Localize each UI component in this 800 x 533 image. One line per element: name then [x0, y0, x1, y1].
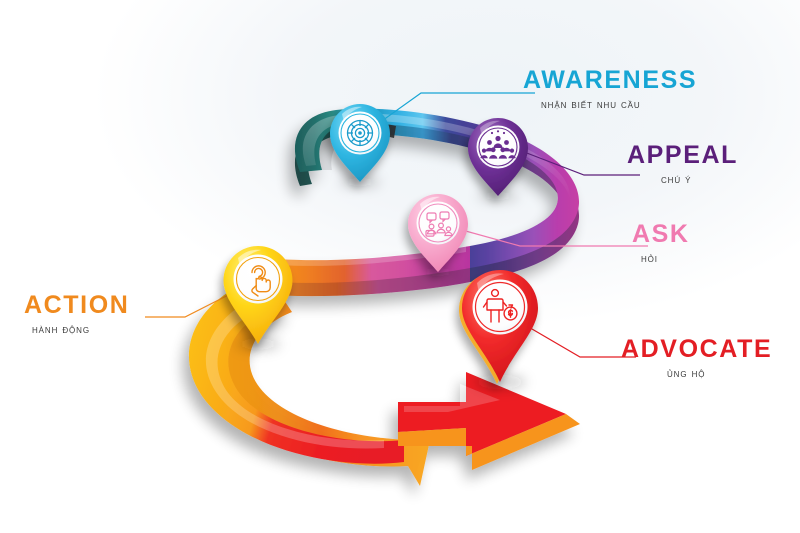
stage-label-advocate[interactable]: ADVOCATE Ủng hộ [621, 337, 772, 381]
pin-appeal[interactable] [468, 118, 528, 196]
stage-label-ask[interactable]: ASK Hỏi [632, 222, 690, 266]
stage-title-ask: ASK [632, 222, 690, 247]
pin-advocate[interactable] [459, 270, 538, 384]
stage-label-awareness[interactable]: AWARENESS Nhận biết nhu cầu [523, 68, 697, 112]
stage-label-appeal[interactable]: APPEAL Chú ý [627, 143, 738, 187]
stage-title-action: ACTION [24, 293, 129, 318]
stage-title-appeal: APPEAL [627, 143, 738, 168]
infographic-canvas: AWARENESS Nhận biết nhu cầu APPEAL Chú ý… [0, 0, 800, 533]
stage-subtitle-action: Hành động [24, 325, 129, 337]
stage-title-awareness: AWARENESS [523, 68, 697, 93]
stage-subtitle-awareness: Nhận biết nhu cầu [523, 100, 697, 112]
connector-advocate [520, 322, 636, 357]
stage-subtitle-ask: Hỏi [632, 254, 690, 266]
stage-title-advocate: ADVOCATE [621, 337, 772, 362]
target-network-icon [348, 121, 373, 146]
stage-subtitle-advocate: Ủng hộ [621, 369, 772, 381]
stage-label-action[interactable]: ACTION Hành động [24, 293, 129, 337]
stage-subtitle-appeal: Chú ý [627, 175, 738, 187]
pin-awareness[interactable] [330, 104, 390, 182]
